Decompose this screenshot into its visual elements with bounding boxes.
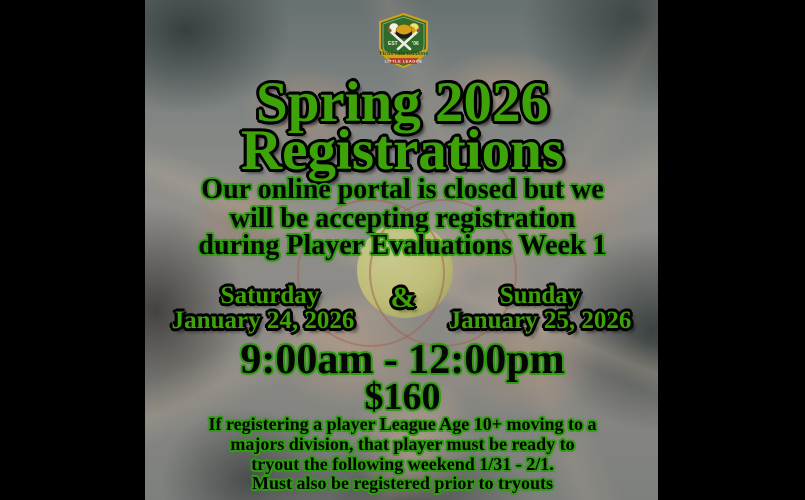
fine-print-line-3: tryout the following weekend 1/31 - 2/1. bbox=[0, 455, 805, 473]
svg-text:LITTLE LEAGUE: LITTLE LEAGUE bbox=[385, 59, 423, 64]
fine-print-line-1: If registering a player League Age 10+ m… bbox=[0, 415, 805, 433]
event-time: 9:00am - 12:00pm bbox=[0, 339, 805, 381]
saturday-date: January 24, 2026 bbox=[138, 308, 388, 333]
page-title-line-2: Registrations bbox=[0, 122, 805, 179]
subtitle-line-2: will be accepting registration bbox=[0, 205, 805, 233]
fine-print-line-4: Must also be registered prior to tryouts bbox=[0, 474, 805, 492]
league-logo: EST '06 Victorville Gibbons LITTLE LEAGU… bbox=[377, 13, 430, 68]
sunday-label: Sunday bbox=[415, 283, 665, 308]
fine-print-line-2: majors division, that player must be rea… bbox=[0, 435, 805, 453]
svg-text:Victorville Gibbons: Victorville Gibbons bbox=[379, 50, 429, 57]
sunday-date: January 25, 2026 bbox=[415, 308, 665, 333]
subtitle-line-3: during Player Evaluations Week 1 bbox=[0, 232, 805, 260]
subtitle-line-1: Our online portal is closed but we bbox=[0, 176, 805, 204]
svg-text:'06: '06 bbox=[412, 41, 419, 47]
registration-price: $160 bbox=[0, 378, 805, 416]
saturday-label: Saturday bbox=[145, 283, 395, 308]
registration-flyer: EST '06 Victorville Gibbons LITTLE LEAGU… bbox=[0, 0, 805, 500]
svg-text:EST: EST bbox=[388, 41, 398, 47]
